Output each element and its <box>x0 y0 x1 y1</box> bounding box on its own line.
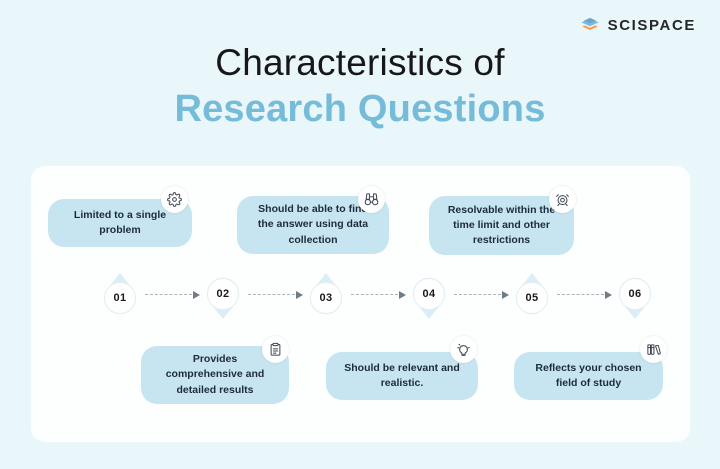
timeline-step-disc: 01 <box>104 282 136 314</box>
gear-icon <box>161 186 188 213</box>
card-label: Reflects your chosen field of study <box>526 361 651 391</box>
arrow-head-icon <box>399 291 406 299</box>
dashed-line <box>557 294 604 295</box>
timeline-step-number: 03 <box>319 292 332 304</box>
timeline-step-06[interactable]: 06 <box>615 273 655 325</box>
book-library-icon <box>640 336 667 363</box>
connector-04-05 <box>454 290 509 299</box>
connector-02-03 <box>248 290 303 299</box>
arrow-head-icon <box>605 291 612 299</box>
connector-05-06 <box>557 290 612 299</box>
timeline-step-disc: 03 <box>310 282 342 314</box>
step-timeline: 01 02 03 04 <box>31 268 690 330</box>
timeline-step-05[interactable]: 05 <box>512 273 552 325</box>
stacked-layers-icon <box>579 14 601 36</box>
timeline-step-disc: 02 <box>207 278 239 310</box>
timeline-step-disc: 06 <box>619 278 651 310</box>
brand-name: SCISPACE <box>608 18 696 33</box>
card-label: Resolvable within the time limit and oth… <box>441 203 562 249</box>
arrow-head-icon <box>193 291 200 299</box>
timeline-step-disc: 05 <box>516 282 548 314</box>
timeline-step-03[interactable]: 03 <box>306 273 346 325</box>
brand-logo: SCISPACE <box>579 14 696 36</box>
connector-03-04 <box>351 290 406 299</box>
clipboard-document-icon <box>262 336 289 363</box>
timeline-step-number: 06 <box>628 288 641 300</box>
lightbulb-idea-icon <box>450 336 477 363</box>
timeline-step-number: 01 <box>113 292 126 304</box>
alarm-clock-icon <box>549 186 576 213</box>
timeline-step-04[interactable]: 04 <box>409 273 449 325</box>
title-line-1: Characteristics of <box>0 42 720 83</box>
page-title: Characteristics of Research Questions <box>0 42 720 133</box>
arrow-head-icon <box>502 291 509 299</box>
title-line-2: Research Questions <box>0 87 720 133</box>
connector-01-02 <box>145 290 200 299</box>
dashed-line <box>145 294 192 295</box>
dashed-line <box>248 294 295 295</box>
card-label: Should be able to find the answer using … <box>249 202 377 248</box>
timeline-step-disc: 04 <box>413 278 445 310</box>
dashed-line <box>351 294 398 295</box>
card-label: Should be relevant and realistic. <box>338 361 466 391</box>
arrow-head-icon <box>296 291 303 299</box>
binoculars-icon <box>358 186 385 213</box>
dashed-line <box>454 294 501 295</box>
timeline-step-02[interactable]: 02 <box>203 273 243 325</box>
card-label: Limited to a single problem <box>60 208 180 238</box>
timeline-step-number: 02 <box>216 288 229 300</box>
timeline-step-number: 05 <box>525 292 538 304</box>
card-label: Provides comprehensive and detailed resu… <box>153 352 277 398</box>
timeline-step-01[interactable]: 01 <box>100 273 140 325</box>
timeline-step-number: 04 <box>422 288 435 300</box>
card-step-06[interactable]: Reflects your chosen field of study <box>514 352 663 400</box>
